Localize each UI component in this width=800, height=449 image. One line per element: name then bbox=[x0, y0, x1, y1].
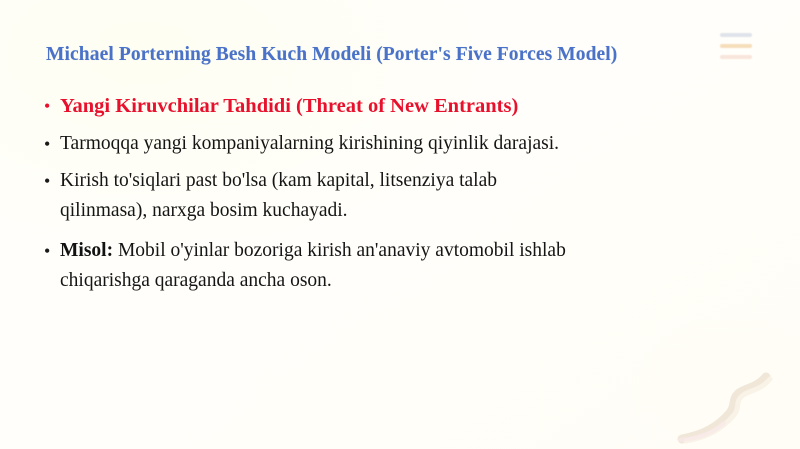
bullet-dot-icon: • bbox=[44, 92, 58, 119]
list-item-line-2: chiqarishga qaraganda ancha oson. bbox=[60, 267, 764, 295]
decorative-ribbon bbox=[674, 355, 794, 445]
list-item-threat-of-new-entrants: • Yangi Kiruvchilar Tahdidi (Threat of N… bbox=[44, 92, 764, 122]
example-lead-label: Misol: bbox=[60, 240, 113, 261]
bullet-list: • Yangi Kiruvchilar Tahdidi (Threat of N… bbox=[44, 92, 764, 301]
slide-title: Michael Porterning Besh Kuch Modeli (Por… bbox=[46, 44, 726, 66]
bullet-dot-icon: • bbox=[44, 237, 58, 264]
list-item-text: Kirish to'siqlari past bo'lsa (kam kapit… bbox=[58, 167, 764, 226]
slide-canvas: Michael Porterning Besh Kuch Modeli (Por… bbox=[0, 0, 800, 449]
list-item-text: Yangi Kiruvchilar Tahdidi (Threat of New… bbox=[58, 92, 764, 122]
list-item-text: Misol: Mobil o'yinlar bozoriga kirish an… bbox=[58, 237, 764, 296]
bullet-dot-icon: • bbox=[44, 167, 58, 194]
list-item-low-barriers: • Kirish to'siqlari past bo'lsa (kam kap… bbox=[44, 167, 764, 226]
list-item-line-1: Kirish to'siqlari past bo'lsa (kam kapit… bbox=[60, 167, 764, 195]
list-item-line-1: Misol: Mobil o'yinlar bozoriga kirish an… bbox=[60, 237, 764, 265]
bullet-dot-icon: • bbox=[44, 130, 58, 157]
list-item-text: Tarmoqqa yangi kompaniyalarning kirishin… bbox=[58, 130, 764, 158]
list-item-line-2: qilinmasa), narxga bosim kuchayadi. bbox=[60, 197, 764, 225]
list-item-example: • Misol: Mobil o'yinlar bozoriga kirish … bbox=[44, 237, 764, 296]
example-line-1-text: Mobil o'yinlar bozoriga kirish an'anaviy… bbox=[113, 240, 566, 261]
list-item-entry-difficulty: • Tarmoqqa yangi kompaniyalarning kirish… bbox=[44, 130, 764, 158]
menu-bar-top bbox=[720, 33, 752, 37]
